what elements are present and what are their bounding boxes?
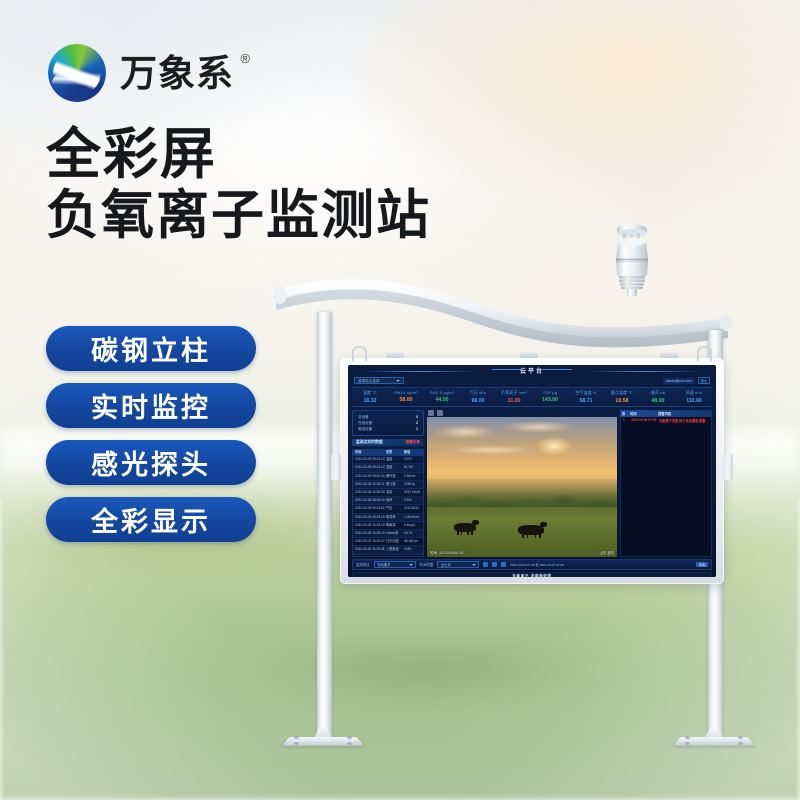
table-cell: 2022-03-26 09:13:50: [355, 505, 386, 512]
table-row[interactable]: 2022-03-07 10:10:47日平均值48.180 pv: [353, 538, 423, 546]
table-cell: 2022-03-15 11:50:38: [355, 555, 386, 557]
cabinet-bracket-left: [331, 454, 341, 480]
alarm-list-panel: 序 时间 报警内容 12022-03-06 07:30负氧离子浓度 低于设定阈值…: [620, 410, 712, 557]
video-timestamp: 时间: 2022/03/06 42: [430, 550, 464, 555]
metric-key: PM10 ug/m³: [388, 390, 424, 395]
chevron-down-icon: [396, 380, 400, 382]
device-stat-row: 离线设备 1: [358, 426, 418, 432]
table-cell: 0.36m/s: [404, 473, 421, 480]
metric-item: 露点温度 ℃ 10.58: [604, 390, 640, 404]
cloud-shape: [446, 445, 536, 455]
metric-key: 噪声 db: [640, 390, 676, 396]
metric-item: 空气湿度 % 58.71: [568, 390, 604, 404]
metric-item: TSP μg 143.00: [532, 390, 568, 404]
control-label-left: 监测项目: [356, 562, 370, 567]
base-flange-plate-right: [677, 726, 751, 748]
table-cell: 0.0PL: [404, 555, 421, 557]
export-excel-icon[interactable]: [483, 562, 488, 567]
headline-line-2: 负氧离子监测站: [46, 186, 431, 245]
alarm-list-header: 序 时间 报警内容: [620, 410, 712, 417]
metric-value: 98.00: [460, 398, 496, 404]
cloud-shape: [503, 421, 573, 433]
table-cell: 下限数值: [386, 555, 404, 557]
device-stat-label: 离线设备: [358, 426, 372, 432]
table-cell: 温度: [386, 456, 404, 463]
table-row[interactable]: 2022-03-26 09:15:10电导率1.05nS/cm: [353, 514, 423, 522]
metric-value: 16.32: [352, 398, 388, 404]
table-row[interactable]: 2022-03-25 10:10:11累计值0.05L/s: [353, 481, 423, 489]
device-stat-count: 1: [416, 426, 418, 432]
globe-swirl-icon: [48, 44, 106, 102]
video-watermark: 山东 潍坊: [599, 550, 614, 555]
data-log-table[interactable]: 时间类型数值2022-03-25 09:21:10温度13.972022-03-…: [352, 449, 424, 557]
table-cell: 3191.5m³/h: [404, 489, 421, 496]
metric-item: PM2.5 ug/m³ 44.00: [424, 390, 460, 404]
header-deco-right: [584, 371, 704, 372]
table-cell: 2022-03-25 09:21:10: [355, 464, 386, 471]
dashboard-header: 云平台: [348, 365, 716, 377]
metrics-strip: 温度 ℃ 16.32 PM10 ug/m³ 58.00 PM2.5 ug/m³ …: [352, 387, 712, 407]
table-row[interactable]: 2022-03-25 10:30:08流量3191.5m³/h: [353, 489, 423, 497]
table-cell: 噪声: [386, 497, 404, 504]
table-header-row: 时间类型数值: [353, 449, 423, 456]
metric-value: 10.58: [604, 398, 640, 404]
station-select[interactable]: 监测站点选择: [354, 377, 404, 384]
chart-control-bar: 监测项目 负氧离子 时间范围 近七天 2022-03-01 07:00 至 20…: [352, 559, 712, 570]
cabinet-hanger-right: [697, 346, 712, 361]
table-header-cell: 时间: [355, 449, 386, 456]
metric-key: 露点温度 ℃: [604, 390, 640, 396]
dashboard-body: 总设备 3 在线设备 2 离线设备 1: [348, 407, 716, 557]
brand-lockup: 万象系 ®: [48, 44, 234, 102]
table-cell: 2022-03-25 09:40:00: [355, 473, 386, 480]
alarm-record-badge[interactable]: 报警记录: [406, 440, 420, 445]
metric-key: PM2.5 ug/m³: [424, 390, 460, 395]
cloud-shape: [435, 425, 495, 439]
alarm-col-content: 报警内容: [658, 411, 710, 416]
alarm-row[interactable]: 12022-03-06 07:30负氧离子浓度 低于设定阈值 报警: [621, 417, 711, 424]
cabinet-mount-c: [660, 352, 678, 358]
metric-item: 噪声 db 48.00: [640, 390, 676, 404]
brand-name: 万象系 ®: [120, 55, 234, 92]
alarm-cell: 2022-03-06 07:30: [631, 418, 659, 423]
table-row[interactable]: 2022-03-26 10:30:10voltaic值18.73: [353, 530, 423, 538]
table-cell: voltaic值: [386, 530, 404, 537]
led-display-cabinet: 云平台 监测站点选择 admin@wxx.com 退出: [340, 358, 724, 584]
metric-item: 风速 m/s 110.00: [676, 390, 712, 404]
table-cell: 累计值: [386, 481, 404, 488]
metric-item: 气压 kPa 98.00: [460, 390, 496, 404]
metric-value: 31.00: [496, 398, 532, 404]
feature-badge-light-sensor[interactable]: 感光探头: [46, 440, 256, 485]
metric-item: 负氧离子 /cm³ 31.00: [496, 390, 532, 404]
table-cell: 日平均值: [386, 538, 404, 545]
brand-name-text: 万象系: [120, 53, 234, 94]
metric-key: 负氧离子 /cm³: [496, 390, 532, 396]
table-row[interactable]: 2022-03-15 11:20:38上限数值0.0PL: [353, 546, 423, 554]
ultrasonic-weather-sensor: [603, 220, 661, 296]
table-cell: 2022-03-25 10:10:11: [355, 481, 386, 488]
dashboard-screen: 云平台 监测站点选择 admin@wxx.com 退出: [348, 365, 716, 577]
table-row[interactable]: 2022-03-26 09:13:50气压0.001541v: [353, 505, 423, 513]
table-cell: 0.4mg/L: [404, 522, 421, 529]
table-header-cell: 类型: [386, 449, 404, 456]
wave-canopy: [272, 276, 732, 356]
table-cell: 0.001541v: [404, 505, 421, 512]
table-cell: 18.73: [404, 530, 421, 537]
cabinet-hanger-left: [352, 346, 367, 361]
alarm-col-index: 序: [622, 411, 630, 416]
calendar-icon[interactable]: [501, 562, 506, 567]
metric-key: 空气湿度 %: [568, 390, 604, 396]
table-row[interactable]: 2022-03-26 08:00:00噪声0.93v: [353, 497, 423, 505]
table-cell: 2022-03-15 11:20:38: [355, 546, 386, 553]
table-cell: 2022-03-26 10:30:10: [355, 530, 386, 537]
registered-trademark-symbol: ®: [240, 52, 251, 65]
dashboard-subheader: 监测站点选择 admin@wxx.com 退出: [348, 377, 716, 386]
realtime-data-title: 监测点实时数据: [356, 440, 383, 445]
product-marketing-image: 云平台 监测站点选择 admin@wxx.com 退出: [0, 0, 800, 800]
fullscreen-icon[interactable]: [428, 410, 434, 416]
table-cell: 2022-03-07 10:10:47: [355, 538, 386, 545]
feature-badge-carbon-steel-post[interactable]: 碳钢立柱: [46, 326, 256, 371]
user-name: admin@wxx.com: [663, 378, 695, 384]
table-row[interactable]: 2022-03-26 10:10:10降雨量0.4mg/L: [353, 522, 423, 530]
table-header-cell: 数值: [404, 449, 421, 456]
metric-key: 气压 kPa: [460, 390, 496, 396]
sun-glow: [537, 437, 571, 455]
control-label-right: 时间范围: [420, 562, 434, 567]
chart-title: 负氧离子 浓度趋势图: [353, 574, 711, 577]
metric-item: PM10 ug/m³ 58.00: [388, 390, 424, 404]
date-range-text: 2022-03-01 07:00 至 2022-03-07 07:00: [510, 562, 564, 567]
table-cell: 2022-03-25 10:30:08: [355, 489, 386, 496]
headline-block: 全彩屏 负氧离子监测站: [46, 124, 431, 245]
table-cell: 0.05L/s: [404, 481, 421, 488]
realtime-data-header: 监测点实时数据 报警记录: [352, 439, 424, 446]
table-cell: 0.93v: [404, 497, 421, 504]
device-stats-panel: 总设备 3 在线设备 2 离线设备 1: [352, 410, 424, 436]
metric-value: 143.00: [532, 397, 568, 403]
table-cell: 上限数值: [386, 546, 404, 553]
table-cell: 2022-03-25 09:21:10: [355, 456, 386, 463]
table-cell: 流量: [386, 489, 404, 496]
cabinet-mount-b: [520, 352, 538, 358]
feature-badge-realtime-monitor[interactable]: 实时监控: [46, 383, 256, 428]
table-cell: 0.0PL: [404, 546, 421, 553]
cabinet-bracket-right: [723, 454, 733, 480]
table-cell: 1.05nS/cm: [404, 514, 421, 521]
carbon-steel-post-left: [317, 312, 332, 736]
video-panel: 时间: 2022/03/06 42 山东 潍坊: [427, 410, 617, 557]
metric-key: TSP μg: [532, 390, 568, 395]
cattle-silhouette: [518, 525, 544, 535]
metric-item: 温度 ℃ 16.32: [352, 390, 388, 404]
alarm-cell: 负氧离子浓度 低于设定阈值 报警: [659, 418, 709, 423]
metric-value: 58.71: [568, 398, 604, 404]
alarm-col-time: 时间: [630, 411, 658, 416]
video-toolbar: [427, 410, 617, 417]
header-chevron-right: [542, 369, 576, 374]
table-row[interactable]: 2022-03-25 09:40:00瞬时值0.36m/s: [353, 473, 423, 481]
table-cell: 湿度: [386, 464, 404, 471]
cattle-silhouette: [454, 523, 476, 532]
cabinet-mount-a: [386, 352, 404, 358]
user-box: admin@wxx.com 退出: [663, 377, 710, 384]
table-cell: 气压: [386, 505, 404, 512]
table-cell: 电导率: [386, 514, 404, 521]
metric-key: 风速 m/s: [676, 390, 712, 396]
table-row[interactable]: 2022-03-25 09:21:10温度13.97: [353, 456, 423, 464]
table-cell: 2022-03-26 10:10:10: [355, 522, 386, 529]
metric-value: 48.00: [640, 398, 676, 404]
time-range-select[interactable]: 近七天: [437, 561, 479, 568]
table-cell: 2022-03-26 09:15:10: [355, 514, 386, 521]
logout-button[interactable]: 退出: [698, 377, 710, 384]
query-button[interactable]: 查询: [696, 562, 708, 567]
table-cell: 13.97: [404, 456, 421, 463]
base-flange-plate-left: [286, 726, 360, 748]
live-camera-feed[interactable]: 时间: 2022/03/06 42 山东 潍坊: [427, 417, 617, 557]
alarm-cell: 1: [623, 418, 631, 423]
metric-value: 110.00: [676, 398, 712, 404]
feature-badge-list: 碳钢立柱 实时监控 感光探头 全彩显示: [46, 326, 256, 542]
print-icon[interactable]: [492, 562, 497, 567]
metric-select[interactable]: 负氧离子: [374, 561, 416, 568]
table-cell: 2022-03-26 08:00:00: [355, 497, 386, 504]
table-row[interactable]: 2022-03-25 09:21:10湿度61.187: [353, 464, 423, 472]
feature-badge-full-color-display[interactable]: 全彩显示: [46, 497, 256, 542]
snapshot-icon[interactable]: [437, 410, 443, 416]
table-cell: 61.187: [404, 464, 421, 471]
trend-chart: 负氧离子 浓度趋势图 个/cm³ 60.0050.0040.0030.0020.…: [352, 572, 712, 577]
table-cell: 瞬时值: [386, 473, 404, 480]
left-panel: 总设备 3 在线设备 2 离线设备 1: [352, 410, 424, 557]
station-select-value: 监测站点选择: [358, 379, 380, 383]
metric-value: 58.00: [388, 397, 424, 403]
alarm-list-body[interactable]: 12022-03-06 07:30负氧离子浓度 低于设定阈值 报警: [620, 417, 712, 557]
table-row[interactable]: 2022-03-15 11:50:38下限数值0.0PL: [353, 555, 423, 557]
headline-line-1: 全彩屏: [46, 124, 431, 186]
metric-key: 温度 ℃: [352, 390, 388, 396]
table-cell: 48.180 pv: [404, 538, 421, 545]
metric-value: 44.00: [424, 397, 460, 403]
table-cell: 降雨量: [386, 522, 404, 529]
